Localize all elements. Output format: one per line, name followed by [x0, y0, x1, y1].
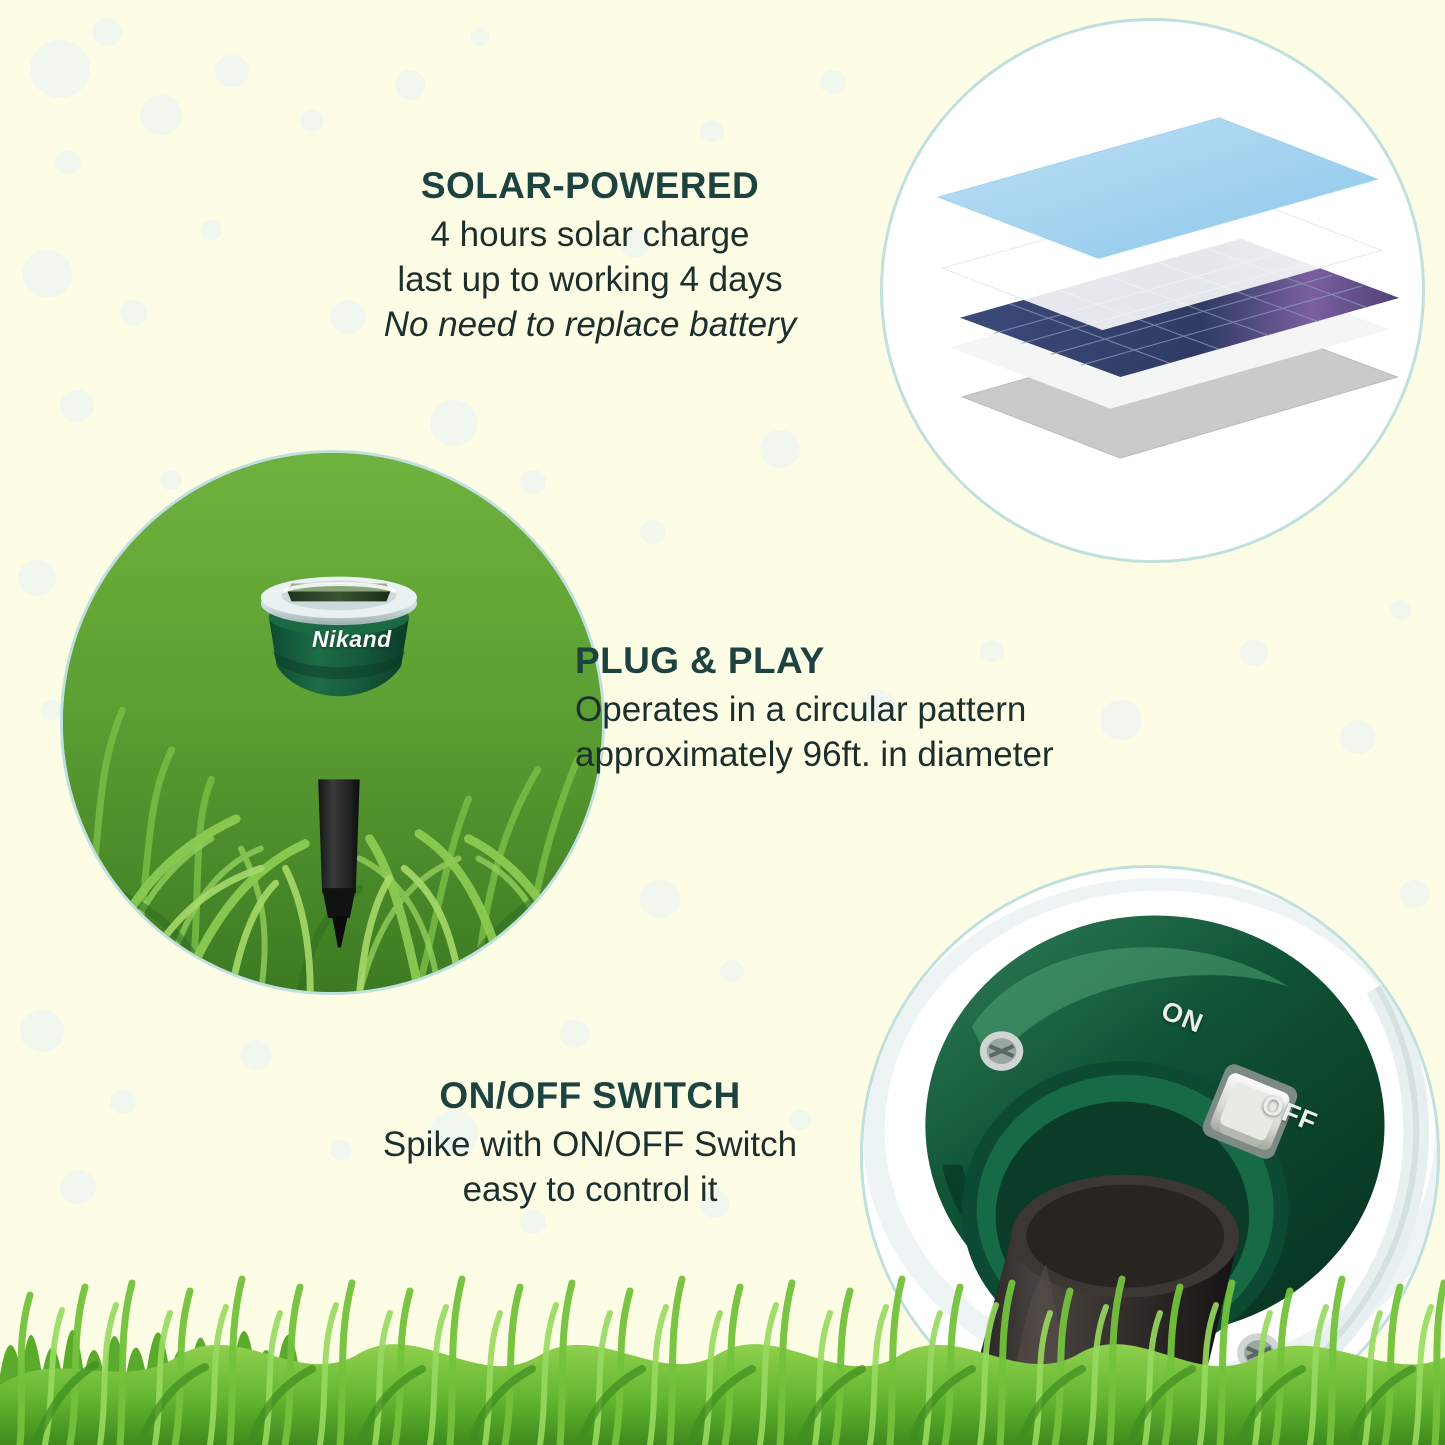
- feature-solar-title: SOLAR-POWERED: [330, 165, 850, 207]
- feature-plug-line1: Operates in a circular pattern: [575, 688, 1195, 733]
- feature-switch-line1: Spike with ON/OFF Switch: [330, 1123, 850, 1168]
- feature-plug-line2: approximately 96ft. in diameter: [575, 733, 1195, 778]
- grass-photo-illustration: [63, 453, 602, 992]
- brand-label: Nikand: [312, 626, 392, 653]
- feature-solar-line1: 4 hours solar charge: [330, 213, 850, 258]
- feature-plug-and-play: PLUG & PLAY Operates in a circular patte…: [575, 640, 1195, 778]
- feature-solar-powered: SOLAR-POWERED 4 hours solar charge last …: [330, 165, 850, 347]
- solar-panel-image: [880, 18, 1425, 563]
- feature-plug-title: PLUG & PLAY: [575, 640, 1195, 682]
- device-in-grass-image: Nikand: [60, 450, 605, 995]
- bottom-grass-band: [0, 1225, 1445, 1445]
- solar-panel-layers-icon: [883, 21, 1422, 560]
- feature-switch-title: ON/OFF SWITCH: [330, 1075, 850, 1117]
- feature-on-off-switch: ON/OFF SWITCH Spike with ON/OFF Switch e…: [330, 1075, 850, 1213]
- product-feature-infographic: SOLAR-POWERED 4 hours solar charge last …: [0, 0, 1445, 1445]
- feature-solar-line3: No need to replace battery: [330, 303, 850, 348]
- feature-solar-line2: last up to working 4 days: [330, 258, 850, 303]
- feature-switch-line2: easy to control it: [330, 1168, 850, 1213]
